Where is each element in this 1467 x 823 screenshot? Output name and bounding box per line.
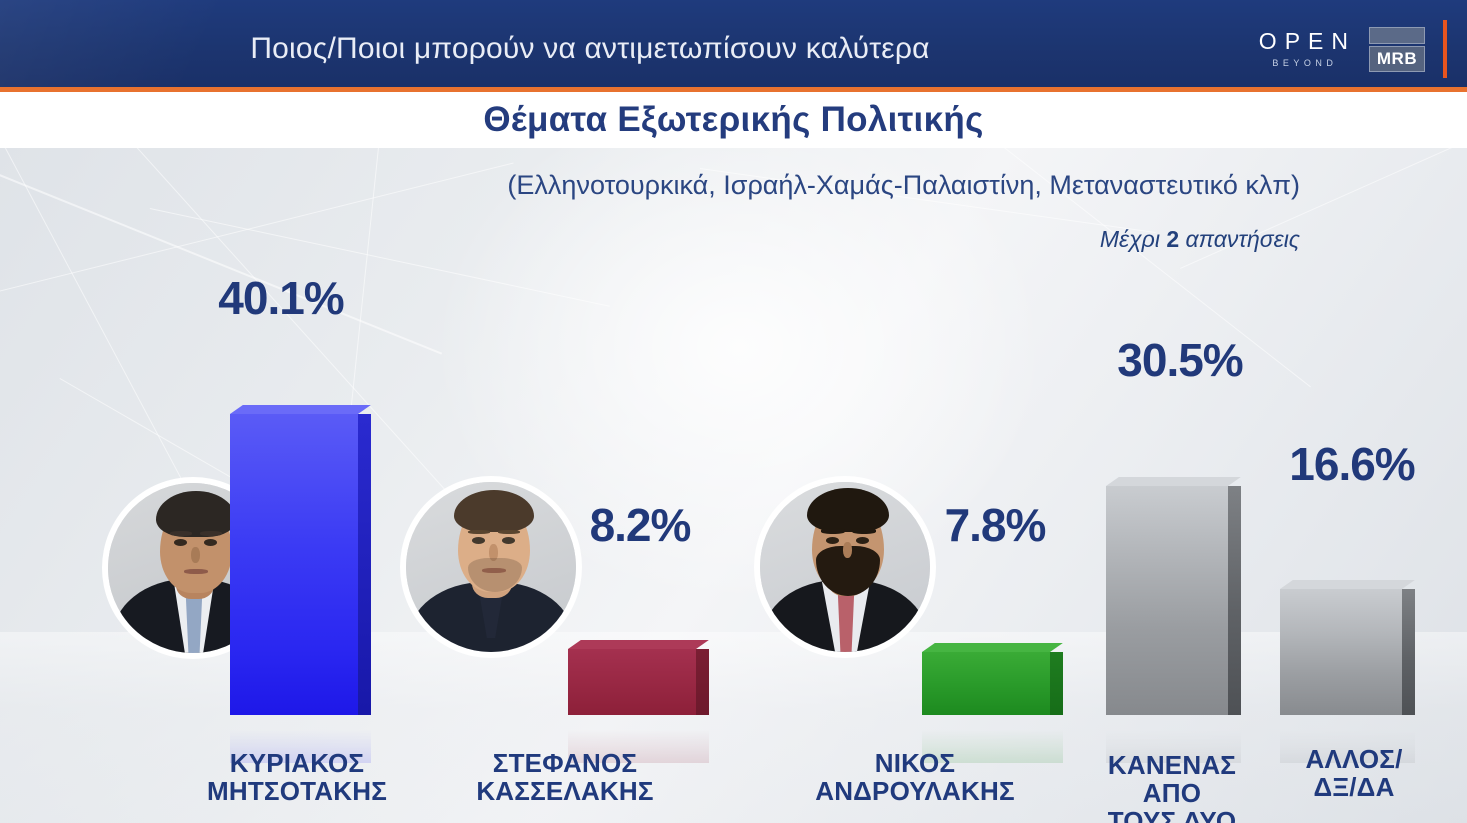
bar-value-kasselakis: 8.2% bbox=[565, 502, 715, 548]
portrait-androulakis bbox=[760, 482, 930, 652]
bar-value-mitsotakis: 40.1% bbox=[198, 275, 364, 321]
bar-group-kasselakis[interactable]: 8.2% bbox=[400, 283, 730, 823]
poll-graphic: Ποιος/Ποιοι μπορούν να αντιμετωπίσουν κα… bbox=[0, 0, 1467, 823]
bar-label-mitsotakis: ΚΥΡΙΑΚΟΣ ΜΗΤΣΟΤΑΚΗΣ bbox=[172, 749, 422, 805]
open-letter-n: N bbox=[1331, 30, 1351, 53]
chart-note: Μέχρι 2 απαντήσεις bbox=[0, 226, 1300, 253]
bar-label-androulakis: ΝΙΚΟΣ ΑΝΔΡΟΥΛΑΚΗΣ bbox=[760, 749, 1070, 805]
bar-group-other[interactable]: 16.6% ΑΛΛΟΣ/ ΔΞ/ΔΑ bbox=[1254, 283, 1454, 823]
bar-top-face bbox=[922, 643, 1063, 652]
bar-other[interactable] bbox=[1280, 589, 1402, 715]
open-letter-e: E bbox=[1308, 30, 1326, 53]
bar-side-face bbox=[1050, 652, 1063, 715]
bar-group-mitsotakis[interactable]: 40.1% bbox=[152, 283, 434, 823]
bar-side-face bbox=[1402, 589, 1415, 715]
mrb-logo: MRB bbox=[1369, 27, 1425, 72]
broadcaster-logos: O P E N BEYOND MRB bbox=[1259, 20, 1447, 78]
bar-value-other: 16.6% bbox=[1262, 441, 1442, 487]
bar-face bbox=[568, 649, 696, 715]
bar-kasselakis[interactable] bbox=[568, 649, 696, 715]
bar-androulakis[interactable] bbox=[922, 652, 1050, 715]
bar-mitsotakis[interactable] bbox=[230, 414, 358, 715]
note-prefix: Μέχρι bbox=[1100, 226, 1167, 252]
bar-neither[interactable] bbox=[1106, 486, 1228, 715]
bar-value-neither: 30.5% bbox=[1090, 337, 1270, 383]
mrb-logo-bottom-block: MRB bbox=[1369, 46, 1425, 72]
bar-face bbox=[1106, 486, 1228, 715]
bar-top-face bbox=[1280, 580, 1415, 589]
portrait-kasselakis bbox=[406, 482, 576, 652]
bar-label-other: ΑΛΛΟΣ/ ΔΞ/ΔΑ bbox=[1249, 745, 1459, 801]
beyond-wordmark: BEYOND bbox=[1272, 59, 1337, 68]
bar-side-face bbox=[696, 649, 709, 715]
avatar-androulakis bbox=[760, 482, 930, 652]
note-number: 2 bbox=[1166, 226, 1179, 252]
mrb-logo-top-block bbox=[1369, 27, 1425, 44]
bar-value-androulakis: 7.8% bbox=[920, 502, 1070, 548]
bar-side-face bbox=[1228, 486, 1241, 715]
bar-group-neither[interactable]: 30.5% ΚΑΝΕΝΑΣ ΑΠΟ ΤΟΥΣ ΔΥΟ bbox=[1072, 283, 1272, 823]
open-letter-p: P bbox=[1285, 30, 1303, 53]
open-letter-o: O bbox=[1259, 30, 1280, 53]
chart-subtitle: (Ελληνοτουρκικά, Ισραήλ-Χαμάς-Παλαιστίνη… bbox=[0, 170, 1300, 201]
bar-top-face bbox=[230, 405, 371, 414]
avatar-kasselakis bbox=[406, 482, 576, 652]
page-title: Θέματα Εξωτερικής Πολιτικής bbox=[0, 100, 1467, 140]
bar-label-kasselakis: ΣΤΕΦΑΝΟΣ ΚΑΣΣΕΛΑΚΗΣ bbox=[420, 749, 710, 805]
header-question: Ποιος/Ποιοι μπορούν να αντιμετωπίσουν κα… bbox=[0, 32, 1180, 66]
bar-side-face bbox=[358, 414, 371, 715]
open-beyond-logo: O P E N BEYOND bbox=[1259, 30, 1351, 68]
bar-group-androulakis[interactable]: 7.8% bbox=[750, 283, 1080, 823]
orange-accent-tick bbox=[1443, 20, 1447, 78]
header-bar: Ποιος/Ποιοι μπορούν να αντιμετωπίσουν κα… bbox=[0, 0, 1467, 87]
bar-label-neither: ΚΑΝΕΝΑΣ ΑΠΟ ΤΟΥΣ ΔΥΟ bbox=[1067, 751, 1277, 823]
open-wordmark: O P E N bbox=[1259, 30, 1351, 53]
note-suffix: απαντήσεις bbox=[1179, 226, 1300, 252]
chart-area: (Ελληνοτουρκικά, Ισραήλ-Χαμάς-Παλαιστίνη… bbox=[0, 148, 1467, 823]
bar-face bbox=[1280, 589, 1402, 715]
mrb-label: MRB bbox=[1377, 49, 1417, 69]
bar-face bbox=[922, 652, 1050, 715]
bar-top-face bbox=[568, 640, 709, 649]
bar-top-face bbox=[1106, 477, 1241, 486]
bar-face bbox=[230, 414, 358, 715]
